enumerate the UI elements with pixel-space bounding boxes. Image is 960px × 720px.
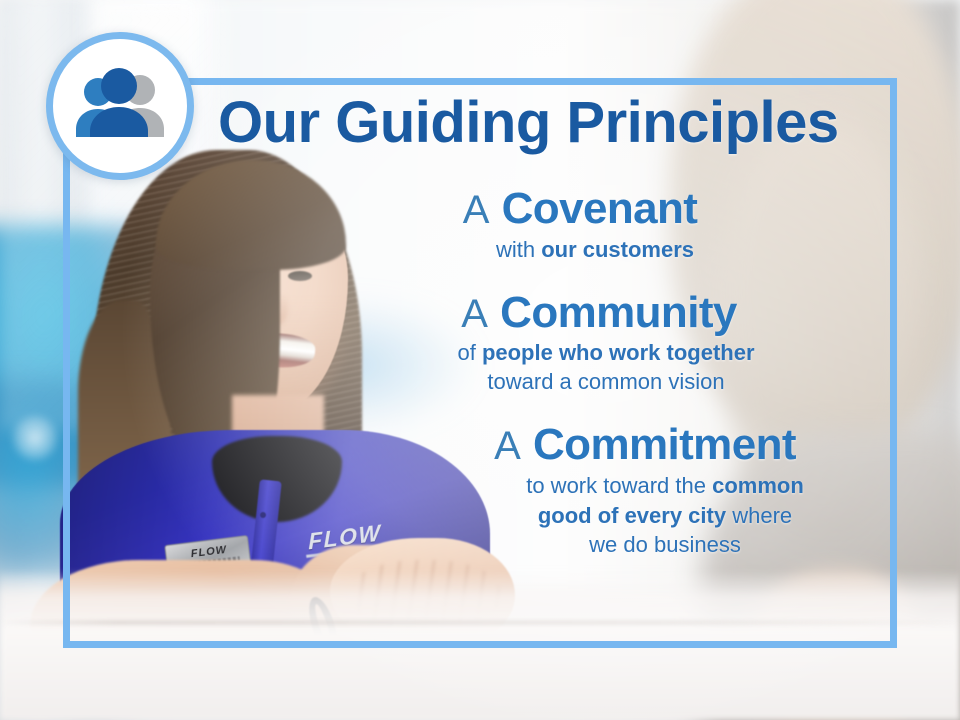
desk-edge (0, 621, 960, 624)
page-title: Our Guiding Principles (218, 94, 839, 152)
principle-heading: A Commitment (280, 422, 880, 469)
principle-keyword: Covenant (502, 184, 698, 233)
principle-keyword: Community (500, 288, 737, 337)
principle-subtext: with our customers (280, 236, 880, 264)
group-of-people-icon (68, 68, 172, 144)
principle-covenant: A Covenant with our customers (280, 186, 880, 264)
polo-button (260, 512, 266, 518)
principle-subtext-line: with our customers (496, 237, 694, 262)
principle-heading: A Covenant (280, 186, 880, 233)
principle-subtext-line: toward a common vision (332, 368, 880, 396)
principle-subtext-line: we do business (450, 530, 880, 559)
principle-subtext: of people who work together toward a com… (280, 339, 880, 395)
principle-heading: A Community (280, 290, 880, 337)
principle-subtext: to work toward the common good of every … (280, 471, 880, 559)
people-badge (46, 32, 194, 180)
principle-article: A (463, 188, 490, 232)
principle-commitment: A Commitment to work toward the common g… (280, 422, 880, 559)
principle-subtext-line: of people who work together (332, 339, 880, 367)
desk-surface (0, 570, 960, 720)
principle-subtext-line: to work toward the common (450, 471, 880, 500)
principle-article: A (494, 424, 521, 468)
principles-list: A Covenant with our customers A Communit… (280, 186, 880, 569)
principle-community: A Community of people who work together … (280, 290, 880, 396)
guiding-principles-graphic: FLOW FLOW (0, 0, 960, 720)
principle-article: A (461, 292, 488, 336)
principle-subtext-line: good of every city where (450, 501, 880, 530)
principle-keyword: Commitment (533, 420, 796, 469)
